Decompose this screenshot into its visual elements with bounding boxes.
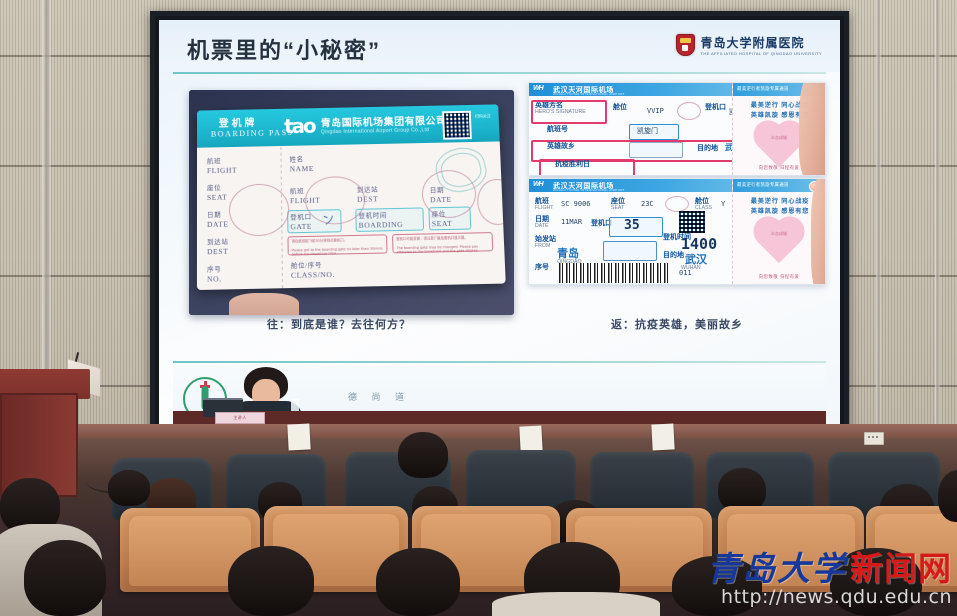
value-no: 011	[679, 269, 692, 277]
slide-footer-text: 德 尚 道	[348, 390, 410, 403]
shield-crest-icon	[676, 34, 695, 56]
hospital-name-en: THE AFFILIATED HOSPITAL OF QINGDAO UNIVE…	[701, 51, 823, 56]
ticket-hero-bottom: WH 武汉天河国际机场 WUHAN TIANHE INTERNATIONAL A…	[528, 178, 826, 285]
nameplate-text: 主讲人	[216, 413, 264, 423]
watermark: 青岛大学 新闻网 http://news.qdu.edu.cn	[707, 542, 952, 608]
audience-head	[398, 432, 448, 478]
finger-holding-ticket	[799, 82, 826, 176]
field-dest-stub: 到达站 DEST	[207, 236, 229, 257]
hand-holding-pass	[229, 293, 299, 315]
value-gate-boxed: 凯旋门	[637, 126, 658, 136]
audience-shoulders	[492, 592, 660, 616]
value-class: VVIP	[647, 107, 664, 115]
ink-stamp	[665, 196, 689, 212]
wall-paper-notice	[519, 425, 542, 452]
field-gate: 登机口 GATE	[290, 211, 312, 232]
field-flight-stub: 航班 FLIGHT	[207, 155, 237, 175]
airport-logo-icon: WH	[533, 181, 543, 188]
caption-right: 返：抗疫英雄，美丽故乡	[611, 316, 743, 332]
projection-screen: 机票里的“小秘密” 青岛大学附属医院 THE AFFILIATED HOSPIT…	[150, 11, 849, 434]
wall-paper-notice	[651, 423, 674, 450]
field-destination-label: 目的地	[697, 146, 718, 152]
wall-trim-strip	[876, 0, 881, 430]
watermark-title-row: 青岛大学 新闻网	[707, 542, 952, 590]
field-flight-no: 航班号	[547, 127, 568, 133]
watermark-site-red: 新闻网	[850, 542, 952, 590]
value-date: 11MAR	[561, 218, 582, 226]
qr-label-right: 扫码关注	[475, 112, 491, 119]
field-boarding: 登机时间 BOARDING	[358, 209, 403, 230]
page-title: 机票里的“小秘密”	[187, 33, 381, 65]
field-gate-label: 登机口	[705, 105, 726, 111]
ink-stamp	[476, 179, 505, 226]
field-class-no: 舱位/序号 CLASS/NO.	[291, 259, 335, 280]
field-date-stub: 日期 DATE	[207, 209, 229, 230]
label-seat: 座位 SEAT	[611, 199, 625, 211]
wall-trim-strip	[935, 0, 940, 440]
heart-label: 众志成城	[766, 231, 792, 251]
speaker-video-strip: 德 尚 道 主讲人	[173, 365, 826, 425]
side-panel-slogan: 最美逆行 同心战疫 英雄凯旋 感恩有您	[739, 197, 821, 217]
caption-left: 往：到底是谁？去往何方？	[267, 316, 411, 332]
hometown-note-box	[629, 142, 683, 158]
label-to: 目的地	[663, 253, 684, 259]
field-seat-stub: 座位 SEAT	[207, 182, 227, 202]
presentation-slide: 机票里的“小秘密” 青岛大学附属医院 THE AFFILIATED HOSPIT…	[159, 20, 840, 425]
boarding-pass-photo-left: 登机牌 BOARDING PASS tao 青岛国际机场集团有限公司 Qingd…	[189, 90, 514, 315]
field-hero-hometown: 英雄故乡	[547, 144, 575, 150]
speaker-desk	[173, 411, 826, 425]
heart-label: 众志成城	[766, 135, 792, 155]
hospital-logo: 青岛大学附属医院 THE AFFILIATED HOSPITAL OF QING…	[676, 34, 823, 56]
note-right-en: The boarding gate may be changed. Please…	[393, 242, 492, 257]
nameplate: 主讲人	[215, 412, 265, 424]
note-left-en: Please get to the boarding gate no later…	[289, 244, 387, 259]
label-no: 序号	[535, 265, 549, 271]
qr-code-icon	[442, 111, 472, 140]
audience-head	[24, 540, 106, 616]
boarding-pass-title-en: BOARDING PASS	[211, 128, 294, 139]
label-flight: 航班 FLIGHT	[535, 199, 553, 211]
title-divider	[173, 72, 826, 74]
barcode	[559, 263, 669, 283]
airport-logo-icon: WH	[533, 85, 543, 92]
audience-head	[376, 548, 460, 616]
note-right-box: 登机口可能变更，请注意广播及登机口显示屏。 The boarding gate …	[392, 232, 493, 253]
audience-head	[108, 470, 150, 506]
medical-cross-icon	[200, 381, 210, 391]
seal-note-box	[603, 241, 657, 261]
value-seat: 23C	[641, 200, 654, 208]
airport-name-en: WUHAN TIANHE INTERNATIONAL AIRPORT	[553, 92, 625, 96]
boarding-pass-title-cn: 登机牌	[219, 114, 258, 129]
field-victory-day: 抗疫胜利日	[555, 162, 590, 168]
label-from: 始发站 FROM	[535, 237, 556, 249]
qr-code-icon	[679, 211, 705, 233]
wall-outlet	[864, 432, 884, 445]
annotation-box-hero-name	[531, 100, 607, 124]
boarding-pass-card: 登机牌 BOARDING PASS tao 青岛国际机场集团有限公司 Qingd…	[197, 104, 506, 290]
bottom-divider	[173, 361, 826, 363]
tao-brand-logo: tao	[284, 114, 315, 138]
label-class: 舱位 CLASS	[695, 199, 712, 211]
watermark-url: http://news.qdu.edu.cn	[707, 586, 952, 608]
label-date: 日期 DATE	[535, 217, 549, 229]
finger-holding-ticket	[811, 178, 826, 285]
hospital-name-cn: 青岛大学附属医院	[701, 34, 823, 51]
field-class-label: 舱位	[613, 105, 627, 111]
value-gate: 35	[624, 218, 640, 233]
ink-stamp	[677, 102, 701, 120]
side-panel-header-text: 最美逆行者凯旋专属通道	[737, 182, 789, 188]
airport-name-en: WUHAN TIANHE INTERNATIONAL AIRPORT	[553, 188, 625, 192]
value-flight: SC 9006	[561, 200, 591, 208]
stage-front-edge	[0, 424, 957, 438]
field-name: 姓名 NAME	[289, 153, 314, 173]
side-panel-header-text: 最美逆行者凯旋专属通道	[737, 86, 789, 92]
watermark-site-cn: 青岛大学	[707, 542, 847, 590]
wall-paper-notice	[287, 423, 310, 450]
value-class: Y	[721, 200, 725, 208]
note-left-box: 请在航班起飞前30分钟到达登机口。 Please get to the boar…	[287, 234, 387, 255]
screenshot-root: 机票里的“小秘密” 青岛大学附属医院 THE AFFILIATED HOSPIT…	[0, 0, 957, 616]
field-no-stub: 序号 NO.	[207, 263, 222, 284]
ticket-hero-top: WH 武汉天河国际机场 WUHAN TIANHE INTERNATIONAL A…	[528, 82, 826, 176]
audience-head	[228, 546, 314, 616]
screen-surface: 机票里的“小秘密” 青岛大学附属医院 THE AFFILIATED HOSPIT…	[159, 20, 840, 425]
